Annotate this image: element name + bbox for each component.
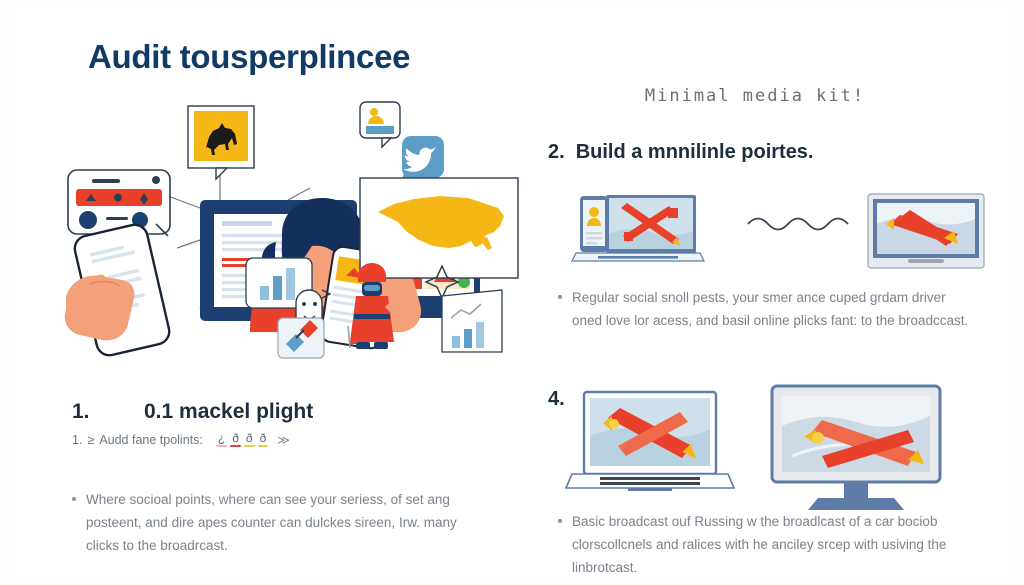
us-map-card [360,178,518,278]
tv-with-jet-screen [868,194,984,268]
step2-media-row [568,190,988,280]
mark-glyph-4: ð [260,432,267,447]
left-step-block: 1. 0.1 mackel plight 1. ≥ Audd fane tpol… [72,400,522,447]
list-item: Where socioal points, where can see your… [72,488,492,558]
step4-media-row [560,380,990,495]
bullet-dot-icon [558,295,562,299]
twitter-icon [400,136,444,184]
horse-poster-card [188,106,254,179]
bullet-dot-icon [558,519,562,523]
step2-heading: Build a mnnilinle poirtes. [576,141,814,164]
step4-bullet-list: Basic broadcast ouf Russing w the broadl… [558,510,988,580]
left-step-heading-row: 1. 0.1 mackel plight [72,400,522,424]
bullet-text: Where socioal points, where can see your… [86,488,492,558]
slide-page: Audit tousperplincee [0,0,1024,585]
hero-illustration [60,100,515,332]
step2-heading-row: 2. Build a mnnilinle poirtes. [548,141,814,164]
subline-number: 1. [72,433,82,447]
wavy-line-divider [748,219,848,230]
mark-glyph-2: ð [232,432,239,447]
step2-number: 2. [548,141,565,164]
bullet-text: Basic broadcast ouf Russing w the broadl… [572,510,988,580]
left-bullet-list: Where socioal points, where can see your… [72,488,492,558]
bullet-dot-icon [72,497,76,501]
mark-glyph-3: ð [246,432,253,447]
mark-glyph-1: ¿ [218,432,225,447]
list-item: Basic broadcast ouf Russing w the broadl… [558,510,988,580]
remote-control-card [68,170,170,236]
bullet-text: Regular social snoll pests, your smer an… [572,286,978,332]
chevron-right-icon: ≫ [277,433,290,447]
laptop-with-jet-screen [572,195,704,261]
subline-arrow-icon: ≥ [87,433,94,447]
desktop-monitor-with-jet-screen [772,386,940,510]
list-item: Regular social snoll pests, your smer an… [558,286,978,332]
left-step-heading: 0.1 mackel plight [144,400,313,424]
left-step-subline: 1. ≥ Audd fane tpolints: ¿ ð ð ð ≫ [72,432,522,447]
page-title: Audit tousperplincee [88,38,410,76]
right-column: Minimal media kit! 2. Build a mnnilinle … [540,18,1010,566]
left-step-number: 1. [72,400,144,424]
subline-marks: ¿ ð ð ð ≫ [218,432,290,447]
link-chain-icon [278,318,324,358]
hand-holding-phone-left [65,222,172,358]
left-column: Audit tousperplincee [60,18,530,566]
laptop-with-jet-screen [566,392,734,491]
profile-bubble-icon [360,102,400,147]
media-kit-title: Minimal media kit! [540,86,970,106]
step2-bullet-list: Regular social snoll pests, your smer an… [558,286,978,332]
line-chart-card [442,290,502,352]
subline-label: Audd fane tpolints: [99,433,203,447]
